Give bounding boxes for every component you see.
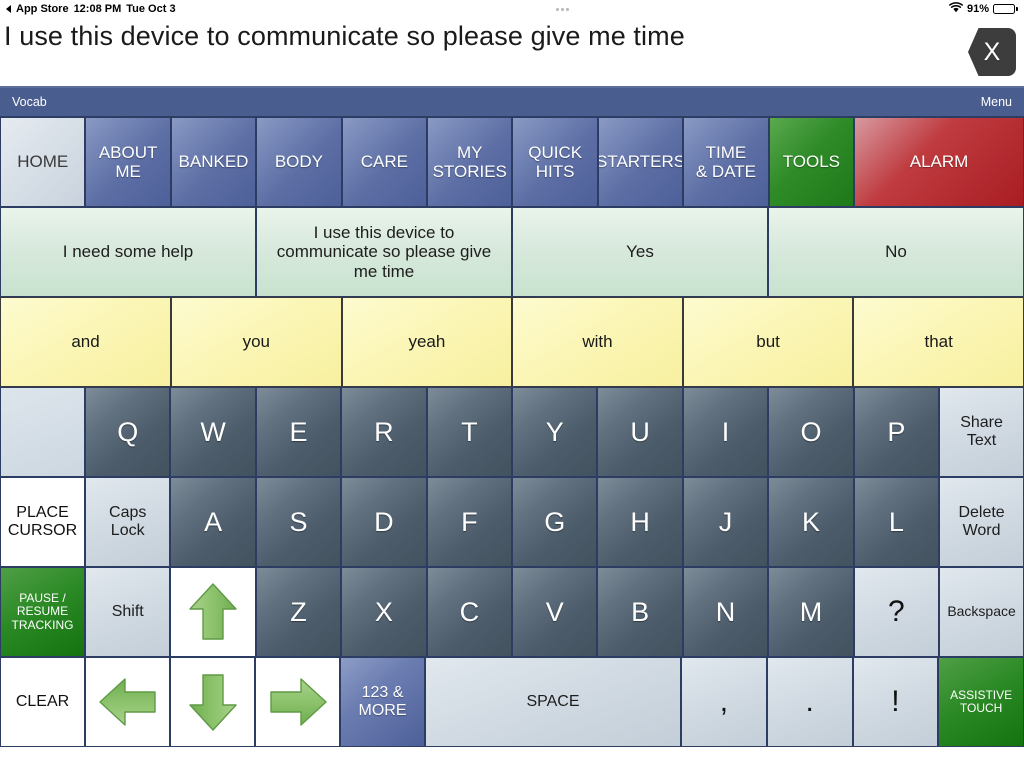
key-h[interactable]: H	[597, 477, 682, 567]
ios-status-bar: App Store 12:08 PM Tue Oct 3 91%	[0, 0, 1024, 18]
key-pause-resume-tracking[interactable]: PAUSE /RESUMETRACKING	[0, 567, 85, 657]
status-bar-right: 91%	[949, 2, 1018, 16]
dot-icon	[556, 8, 559, 11]
battery-percent-label: 91%	[967, 3, 989, 15]
key-blank	[0, 387, 85, 477]
clear-message-label: X	[984, 38, 1001, 67]
key-j[interactable]: J	[683, 477, 768, 567]
key-share-text[interactable]: ShareText	[939, 387, 1024, 477]
word-prediction-and[interactable]: and	[0, 297, 171, 387]
key-l[interactable]: L	[854, 477, 939, 567]
clear-message-icon[interactable]: X	[968, 28, 1016, 76]
key-u[interactable]: U	[597, 387, 682, 477]
key-o[interactable]: O	[768, 387, 853, 477]
status-date: Tue Oct 3	[126, 3, 175, 15]
key-k[interactable]: K	[768, 477, 853, 567]
keyboard-row-4: CLEAR 123 &MORESPACE,.!ASSISTIVETOUCH	[0, 657, 1024, 747]
battery-icon	[993, 4, 1018, 14]
message-text: I use this device to communicate so plea…	[4, 20, 685, 54]
back-app-label: App Store	[16, 3, 69, 15]
arrow-down-icon[interactable]	[170, 657, 255, 747]
category-button-banked[interactable]: BANKED	[171, 117, 256, 207]
key-g[interactable]: G	[512, 477, 597, 567]
key-d[interactable]: D	[341, 477, 426, 567]
dot-icon	[561, 8, 564, 11]
phrase-button-yes[interactable]: Yes	[512, 207, 768, 297]
dot-icon	[566, 8, 569, 11]
word-prediction-but[interactable]: but	[683, 297, 854, 387]
key-t[interactable]: T	[427, 387, 512, 477]
key-shift[interactable]: Shift	[85, 567, 170, 657]
key-b[interactable]: B	[597, 567, 682, 657]
status-time: 12:08 PM	[74, 3, 122, 15]
key-v[interactable]: V	[512, 567, 597, 657]
key-backspace[interactable]: Backspace	[939, 567, 1024, 657]
word-prediction-row: andyouyeahwithbutthat	[0, 297, 1024, 387]
key-blank[interactable]: !	[853, 657, 939, 747]
app-navbar: Vocab Menu	[0, 88, 1024, 117]
category-button-alarm[interactable]: ALARM	[854, 117, 1024, 207]
key-z[interactable]: Z	[256, 567, 341, 657]
key-123-more[interactable]: 123 &MORE	[340, 657, 425, 747]
phrase-button-no[interactable]: No	[768, 207, 1024, 297]
category-button-my-stories[interactable]: MYSTORIES	[427, 117, 512, 207]
key-p[interactable]: P	[854, 387, 939, 477]
wifi-icon	[949, 2, 963, 16]
key-a[interactable]: A	[170, 477, 255, 567]
key-r[interactable]: R	[341, 387, 426, 477]
category-button-about-me[interactable]: ABOUTME	[85, 117, 170, 207]
category-button-quick-hits[interactable]: QUICKHITS	[512, 117, 597, 207]
key-delete-word[interactable]: DeleteWord	[939, 477, 1024, 567]
key-clear[interactable]: CLEAR	[0, 657, 85, 747]
arrow-left-icon[interactable]	[85, 657, 170, 747]
category-button-starters[interactable]: STARTERS	[598, 117, 683, 207]
key-s[interactable]: S	[256, 477, 341, 567]
word-prediction-that[interactable]: that	[853, 297, 1024, 387]
key-q[interactable]: Q	[85, 387, 170, 477]
keyboard-row-3: PAUSE /RESUMETRACKINGShift ZXCVBNM?Backs…	[0, 567, 1024, 657]
key-blank[interactable]: ,	[681, 657, 767, 747]
key-blank[interactable]: .	[767, 657, 853, 747]
key-blank[interactable]: ?	[854, 567, 939, 657]
key-place-cursor[interactable]: PLACECURSOR	[0, 477, 85, 567]
category-button-home[interactable]: HOME	[0, 117, 85, 207]
message-window[interactable]: I use this device to communicate so plea…	[0, 18, 1024, 88]
arrow-up-icon[interactable]	[170, 567, 255, 657]
word-prediction-yeah[interactable]: yeah	[342, 297, 513, 387]
status-bar-left[interactable]: App Store 12:08 PM Tue Oct 3	[6, 3, 176, 15]
word-prediction-you[interactable]: you	[171, 297, 342, 387]
key-i[interactable]: I	[683, 387, 768, 477]
keyboard-row-1: QWERTYUIOPShareText	[0, 387, 1024, 477]
quick-phrase-row: I need some helpI use this device to com…	[0, 207, 1024, 297]
key-w[interactable]: W	[170, 387, 255, 477]
category-button-care[interactable]: CARE	[342, 117, 427, 207]
key-y[interactable]: Y	[512, 387, 597, 477]
key-n[interactable]: N	[683, 567, 768, 657]
screen-footer	[0, 747, 1024, 768]
key-x[interactable]: X	[341, 567, 426, 657]
key-c[interactable]: C	[427, 567, 512, 657]
menu-button[interactable]: Menu	[981, 95, 1012, 109]
left-triangle-icon	[6, 5, 11, 13]
aac-app-screen: App Store 12:08 PM Tue Oct 3 91%	[0, 0, 1024, 768]
status-bar-center-dots	[176, 8, 949, 11]
key-assistive-touch[interactable]: ASSISTIVETOUCH	[938, 657, 1024, 747]
keyboard-row-2: PLACECURSORCapsLockASDFGHJKLDeleteWord	[0, 477, 1024, 567]
category-row: HOMEABOUTMEBANKEDBODYCAREMYSTORIESQUICKH…	[0, 117, 1024, 207]
key-caps-lock[interactable]: CapsLock	[85, 477, 170, 567]
category-button-tools[interactable]: TOOLS	[769, 117, 854, 207]
category-button-body[interactable]: BODY	[256, 117, 341, 207]
category-button-time-date[interactable]: TIME& DATE	[683, 117, 768, 207]
key-m[interactable]: M	[768, 567, 853, 657]
arrow-right-icon[interactable]	[255, 657, 340, 747]
key-space[interactable]: SPACE	[425, 657, 681, 747]
phrase-button-i-need-some-help[interactable]: I need some help	[0, 207, 256, 297]
key-f[interactable]: F	[427, 477, 512, 567]
phrase-button-i-use-this-device-to-communi[interactable]: I use this device to communicate so plea…	[256, 207, 512, 297]
key-e[interactable]: E	[256, 387, 341, 477]
word-prediction-with[interactable]: with	[512, 297, 683, 387]
vocab-button[interactable]: Vocab	[12, 95, 47, 109]
